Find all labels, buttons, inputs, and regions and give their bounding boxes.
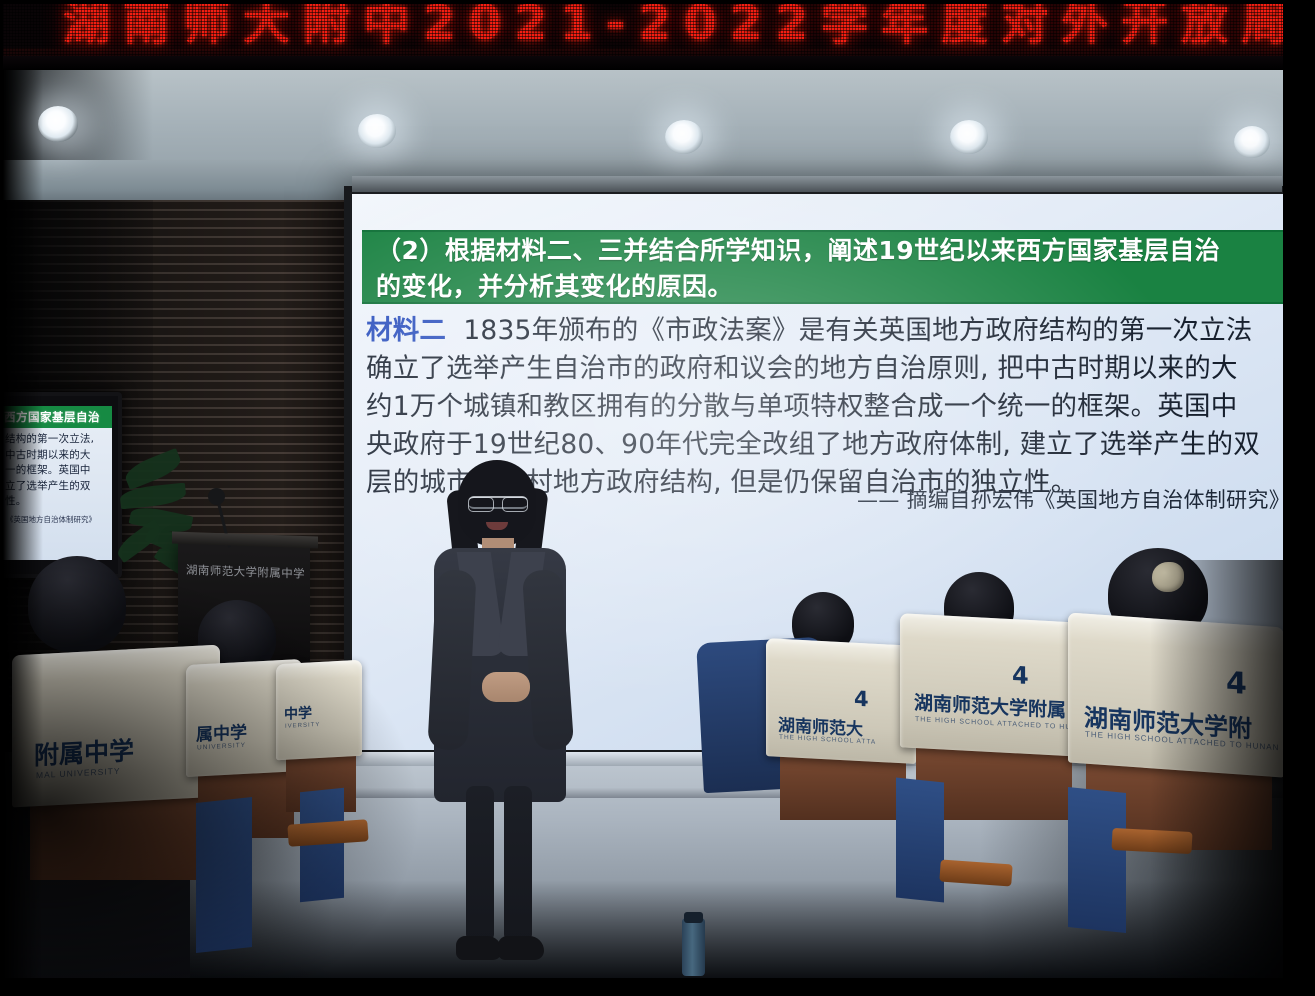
material-body-line: 确立了选举产生自治市的政府和议会的地方自治原则, 把中古时期以来的大	[366, 350, 1292, 388]
question-line-1: （2）根据材料二、三并结合所学知识，阐述19世纪以来西方国家基层自治	[376, 233, 1292, 269]
water-bottle-cap	[684, 912, 703, 923]
chair-cover: 中学 IVERSITY	[276, 660, 362, 761]
led-marquee-board: 湖南师大附中2021-2022学年度对外开放周	[3, 0, 1284, 70]
chair-number: 4	[854, 687, 869, 712]
presenter-leg-right	[504, 786, 532, 942]
chair-cover: 4 湖南师范大学附属 THE HIGH SCHOOL ATTACHED TO H…	[900, 613, 1082, 757]
ceiling-downlight-2	[358, 114, 396, 148]
question-line-2: 的变化，并分析其变化的原因。	[376, 269, 1292, 305]
chair-cover: 4 湖南师范大学附 THE HIGH SCHOOL ATTACHED TO HU…	[1068, 612, 1284, 777]
ceiling-downlight-5	[1234, 126, 1270, 158]
chair-number: 4	[1226, 665, 1247, 701]
scene-edge-darken-left	[3, 66, 43, 978]
material-body-line: 央政府于19世纪80、90年代完全改组了地方政府体制, 建立了选举产生的双	[366, 426, 1292, 464]
chair-cover-en: IVERSITY	[285, 722, 320, 730]
presenter-glasses	[468, 496, 528, 509]
material-label: 材料二	[366, 315, 446, 346]
chair-cover-en: UNIVERSITY	[197, 742, 246, 752]
led-glow-overlay	[3, 48, 1284, 70]
screen-top-rail	[352, 176, 1282, 192]
photo-border-top	[0, 0, 1315, 4]
chair-center-right[interactable]: 4 湖南师范大 THE HIGH SCHOOL ATTA	[766, 642, 916, 818]
presenter-leg-left	[466, 786, 494, 942]
chair-cover-cn: 中学	[284, 702, 312, 723]
ceiling-downlight-1	[38, 106, 78, 142]
slide-question-banner: （2）根据材料二、三并结合所学知识，阐述19世纪以来西方国家基层自治 的变化，并…	[362, 230, 1292, 304]
presenter-legs	[464, 786, 536, 962]
chair-side-panel	[196, 797, 252, 953]
microphone-head	[208, 488, 225, 505]
chair-side-panel	[1068, 787, 1126, 933]
hair-scrunchie	[1152, 562, 1184, 592]
chair-cover: 4 湖南师范大 THE HIGH SCHOOL ATTA	[766, 638, 916, 764]
material-first-line: 材料二 1835年颁布的《市政法案》是有关英国地方政府结构的第一次立法	[366, 312, 1292, 350]
chair-armrest	[1111, 828, 1192, 854]
ceiling-downlight-3	[665, 120, 703, 154]
presenter-shoe-right	[498, 936, 544, 960]
water-bottle	[682, 918, 705, 976]
material-body-line: 1835年颁布的《市政法案》是有关英国地方政府结构的第一次立法	[463, 315, 1252, 346]
led-marquee-text: 湖南师大附中2021-2022学年度对外开放周	[63, 0, 1284, 53]
ceiling-downlight-4	[950, 120, 988, 154]
photo-border-bottom	[0, 978, 1315, 996]
presenter-hands	[482, 672, 530, 702]
chair-side-panel	[896, 777, 944, 902]
slide-source-attribution: —— 摘编自孙宏伟《英国地方自治体制研究》	[857, 484, 1290, 514]
chair-number: 4	[1012, 661, 1029, 690]
photograph-scene: 湖南师大附中2021-2022学年度对外开放周 西方国家基层自治 结构的第一次立…	[0, 0, 1315, 996]
photo-border-right	[1283, 0, 1315, 996]
chair-back-lower	[30, 794, 206, 880]
presenter-shoe-left	[456, 936, 502, 960]
material-body-line: 约1万个城镇和教区拥有的分散与单项特权整合成一个统一的框架。英国中	[366, 388, 1292, 426]
photo-border-left	[0, 0, 3, 996]
